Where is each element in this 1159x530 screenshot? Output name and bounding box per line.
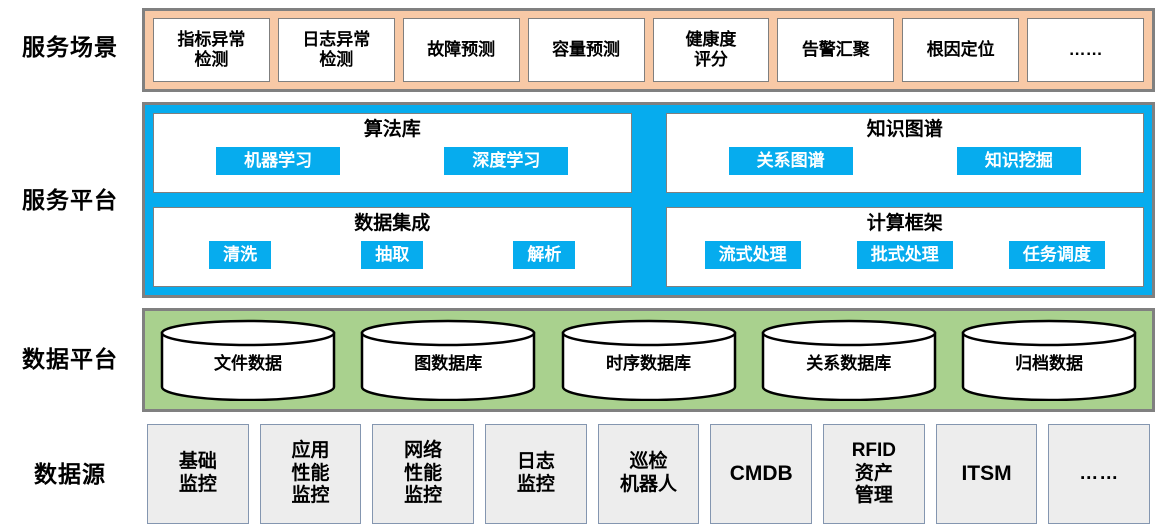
scene-item-health-score[interactable]: 健康度 评分	[653, 18, 770, 82]
data-store-label: 归档数据	[960, 349, 1138, 374]
data-store-timeseries-database[interactable]: 时序数据库	[560, 319, 738, 401]
data-store-archive-data[interactable]: 归档数据	[960, 319, 1138, 401]
chip-knowledge-mining[interactable]: 知识挖掘	[957, 147, 1081, 175]
chip-cleaning[interactable]: 清洗	[209, 241, 271, 269]
panel-title-computing-framework: 计算框架	[867, 212, 943, 236]
data-source-itsm[interactable]: ITSM	[936, 424, 1038, 524]
data-source-infrastructure-monitoring[interactable]: 基础 监控	[147, 424, 249, 524]
service-scene-band: 指标异常 检测 日志异常 检测 故障预测 容量预测 健康度 评分 告警汇聚 根因…	[142, 8, 1155, 92]
service-scene-list: 指标异常 检测 日志异常 检测 故障预测 容量预测 健康度 评分 告警汇聚 根因…	[153, 18, 1144, 82]
panel-title-knowledge-graph: 知识图谱	[867, 118, 943, 142]
scene-item-more[interactable]: ……	[1027, 18, 1144, 82]
chip-deep-learning[interactable]: 深度学习	[444, 147, 568, 175]
data-source-rfid-asset-management[interactable]: RFID 资产 管理	[823, 424, 925, 524]
chip-row-knowledge-graph: 关系图谱 知识挖掘	[667, 147, 1144, 175]
data-store-label: 时序数据库	[560, 349, 738, 374]
panel-title-algorithm-library: 算法库	[364, 118, 421, 142]
data-store-relational-database[interactable]: 关系数据库	[760, 319, 938, 401]
architecture-diagram: 服务场景 服务平台 数据平台 数据源 指标异常 检测 日志异常 检测 故障预测 …	[0, 0, 1159, 530]
panel-knowledge-graph[interactable]: 知识图谱 关系图谱 知识挖掘	[666, 113, 1145, 193]
data-source-more[interactable]: ……	[1048, 424, 1150, 524]
data-source-npm[interactable]: 网络 性能 监控	[372, 424, 474, 524]
scene-item-alarm-aggregation[interactable]: 告警汇聚	[777, 18, 894, 82]
chip-batch-processing[interactable]: 批式处理	[857, 241, 953, 269]
chip-machine-learning[interactable]: 机器学习	[216, 147, 340, 175]
data-store-label: 文件数据	[159, 349, 337, 374]
panel-title-data-integration: 数据集成	[354, 212, 430, 236]
data-source-apm[interactable]: 应用 性能 监控	[260, 424, 362, 524]
panel-algorithm-library[interactable]: 算法库 机器学习 深度学习	[153, 113, 632, 193]
chip-row-data-integration: 清洗 抽取 解析	[154, 241, 631, 269]
row-label-data-source: 数据源	[0, 462, 140, 487]
data-source-inspection-robot[interactable]: 巡检 机器人	[598, 424, 700, 524]
row-label-service-scene: 服务场景	[0, 35, 140, 60]
scene-item-log-anomaly-detection[interactable]: 日志异常 检测	[278, 18, 395, 82]
chip-stream-processing[interactable]: 流式处理	[705, 241, 801, 269]
scene-item-fault-prediction[interactable]: 故障预测	[403, 18, 520, 82]
chip-parsing[interactable]: 解析	[513, 241, 575, 269]
row-label-service-platform: 服务平台	[0, 188, 140, 213]
data-platform-band: 文件数据 图数据库 时序数据库	[142, 308, 1155, 412]
row-label-data-platform: 数据平台	[0, 347, 140, 372]
chip-task-scheduling[interactable]: 任务调度	[1009, 241, 1105, 269]
data-source-cmdb[interactable]: CMDB	[710, 424, 812, 524]
data-store-list: 文件数据 图数据库 时序数据库	[159, 320, 1138, 400]
panel-computing-framework[interactable]: 计算框架 流式处理 批式处理 任务调度	[666, 207, 1145, 287]
data-store-file-data[interactable]: 文件数据	[159, 319, 337, 401]
chip-relation-graph[interactable]: 关系图谱	[729, 147, 853, 175]
scene-item-metric-anomaly-detection[interactable]: 指标异常 检测	[153, 18, 270, 82]
chip-extraction[interactable]: 抽取	[361, 241, 423, 269]
chip-row-algorithm-library: 机器学习 深度学习	[154, 147, 631, 175]
scene-item-root-cause-location[interactable]: 根因定位	[902, 18, 1019, 82]
data-store-label: 关系数据库	[760, 349, 938, 374]
chip-row-computing-framework: 流式处理 批式处理 任务调度	[667, 241, 1144, 269]
scene-item-capacity-prediction[interactable]: 容量预测	[528, 18, 645, 82]
data-source-log-monitoring[interactable]: 日志 监控	[485, 424, 587, 524]
data-source-list: 基础 监控 应用 性能 监控 网络 性能 监控 日志 监控 巡检 机器人 CMD…	[147, 424, 1150, 524]
data-store-label: 图数据库	[359, 349, 537, 374]
service-platform-band: 算法库 机器学习 深度学习 知识图谱 关系图谱 知识挖掘 数据集成 清洗	[142, 102, 1155, 298]
panel-data-integration[interactable]: 数据集成 清洗 抽取 解析	[153, 207, 632, 287]
service-platform-panel-grid: 算法库 机器学习 深度学习 知识图谱 关系图谱 知识挖掘 数据集成 清洗	[153, 113, 1144, 287]
data-store-graph-database[interactable]: 图数据库	[359, 319, 537, 401]
